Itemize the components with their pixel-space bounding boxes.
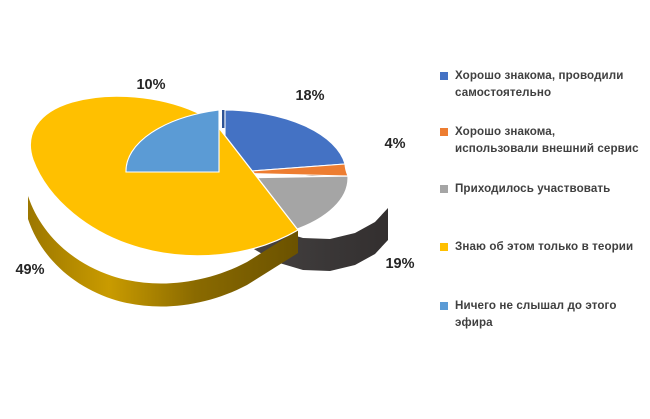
- chart-legend: Хорошо знакома, проводили самостоятельно…: [440, 62, 650, 352]
- legend-square-marker-3: [440, 243, 448, 251]
- data-label-blue: 18%: [295, 88, 324, 104]
- legend-square-marker-2: [440, 185, 448, 193]
- legend-square-marker-4: [440, 302, 448, 310]
- legend-item-label-3: Знаю об этом только в теории: [455, 239, 633, 256]
- data-label-gray: 19%: [385, 256, 414, 272]
- legend-item-4[interactable]: Ничего не слышал до этого эфира: [440, 298, 650, 331]
- legend-item-3[interactable]: Знаю об этом только в теории: [440, 239, 650, 256]
- pie-slice-tops: [30, 96, 348, 256]
- data-label-lightblue: 10%: [136, 77, 165, 93]
- legend-item-label-0: Хорошо знакома, проводили самостоятельно: [455, 68, 623, 101]
- legend-item-label-4: Ничего не слышал до этого эфира: [455, 298, 617, 331]
- legend-item-0[interactable]: Хорошо знакома, проводили самостоятельно: [440, 68, 650, 101]
- legend-square-marker-1: [440, 128, 448, 136]
- legend-square-marker-0: [440, 72, 448, 80]
- legend-item-label-2: Приходилось участвовать: [455, 181, 610, 198]
- legend-item-label-1: Хорошо знакома, использовали внешний сер…: [455, 124, 639, 157]
- legend-item-2[interactable]: Приходилось участвовать: [440, 181, 650, 198]
- legend-item-1[interactable]: Хорошо знакома, использовали внешний сер…: [440, 124, 650, 157]
- data-label-yellow: 49%: [15, 262, 44, 278]
- pie-chart-figure: 10% 18% 4% 19% 49% Хорошо знакома, прово…: [0, 0, 650, 419]
- data-label-orange: 4%: [385, 136, 406, 152]
